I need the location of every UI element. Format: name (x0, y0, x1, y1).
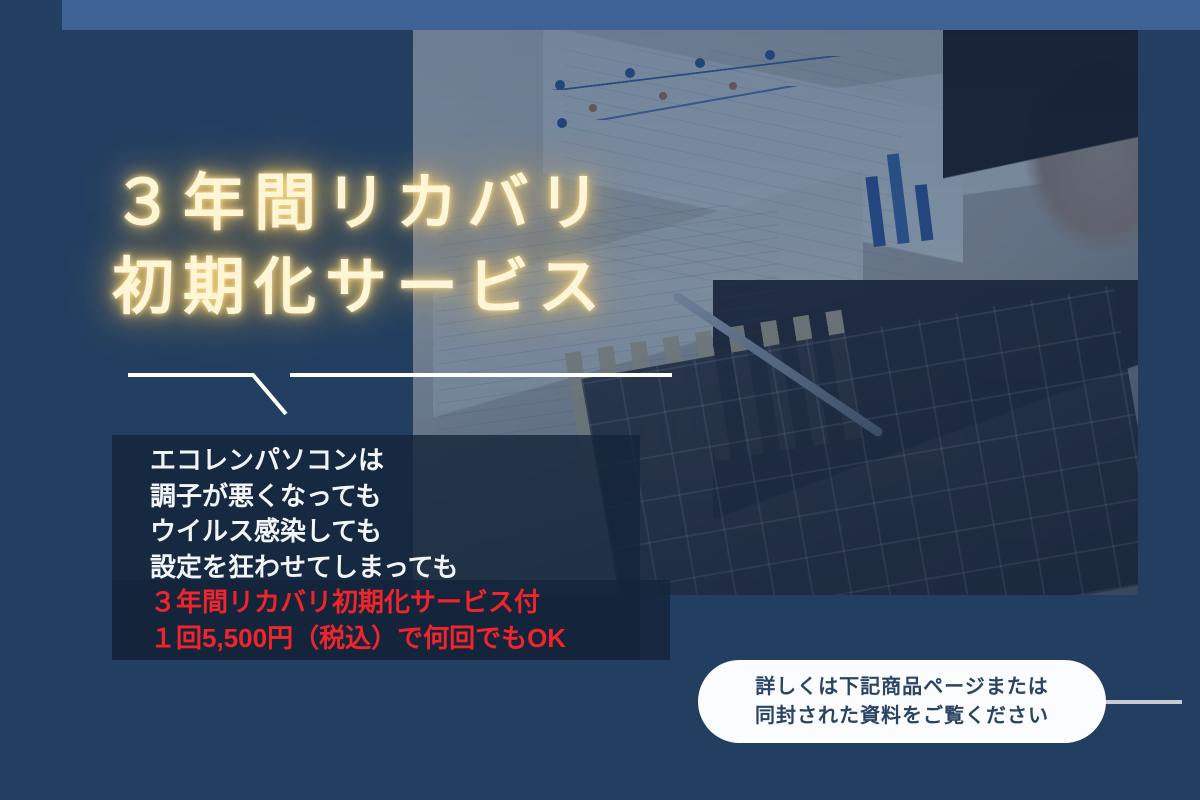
callout-line-1: 詳しくは下記商品ページまたは (755, 673, 1049, 702)
headline-line-2: 初期化サービス (112, 246, 872, 330)
promo-banner: ３年間リカバリ 初期化サービス エコレンパソコンは 調子が悪くなっても ウイルス… (0, 0, 1200, 800)
body-line-1: エコレンパソコンは (150, 443, 690, 479)
body-line-2: 調子が悪くなっても (150, 479, 690, 515)
top-light-blue-band (62, 0, 1200, 30)
body-text: エコレンパソコンは 調子が悪くなっても ウイルス感染しても 設定を狂わせてしまっ… (150, 443, 690, 657)
callout-text: 詳しくは下記商品ページまたは 同封された資料をご覧ください (755, 673, 1049, 731)
callout-pill: 詳しくは下記商品ページまたは 同封された資料をご覧ください (698, 660, 1106, 743)
headline-line-1: ３年間リカバリ (112, 169, 609, 238)
body-line-6: １回5,500円（税込）で何回でもOK (150, 621, 690, 657)
body-line-5: ３年間リカバリ初期化サービス付 (150, 585, 690, 621)
body-line-4: 設定を狂わせてしまっても (150, 550, 690, 586)
callout-line-2: 同封された資料をご覧ください (755, 702, 1049, 731)
body-line-3: ウイルス感染しても (150, 514, 690, 550)
page-title: ３年間リカバリ 初期化サービス (112, 162, 872, 329)
